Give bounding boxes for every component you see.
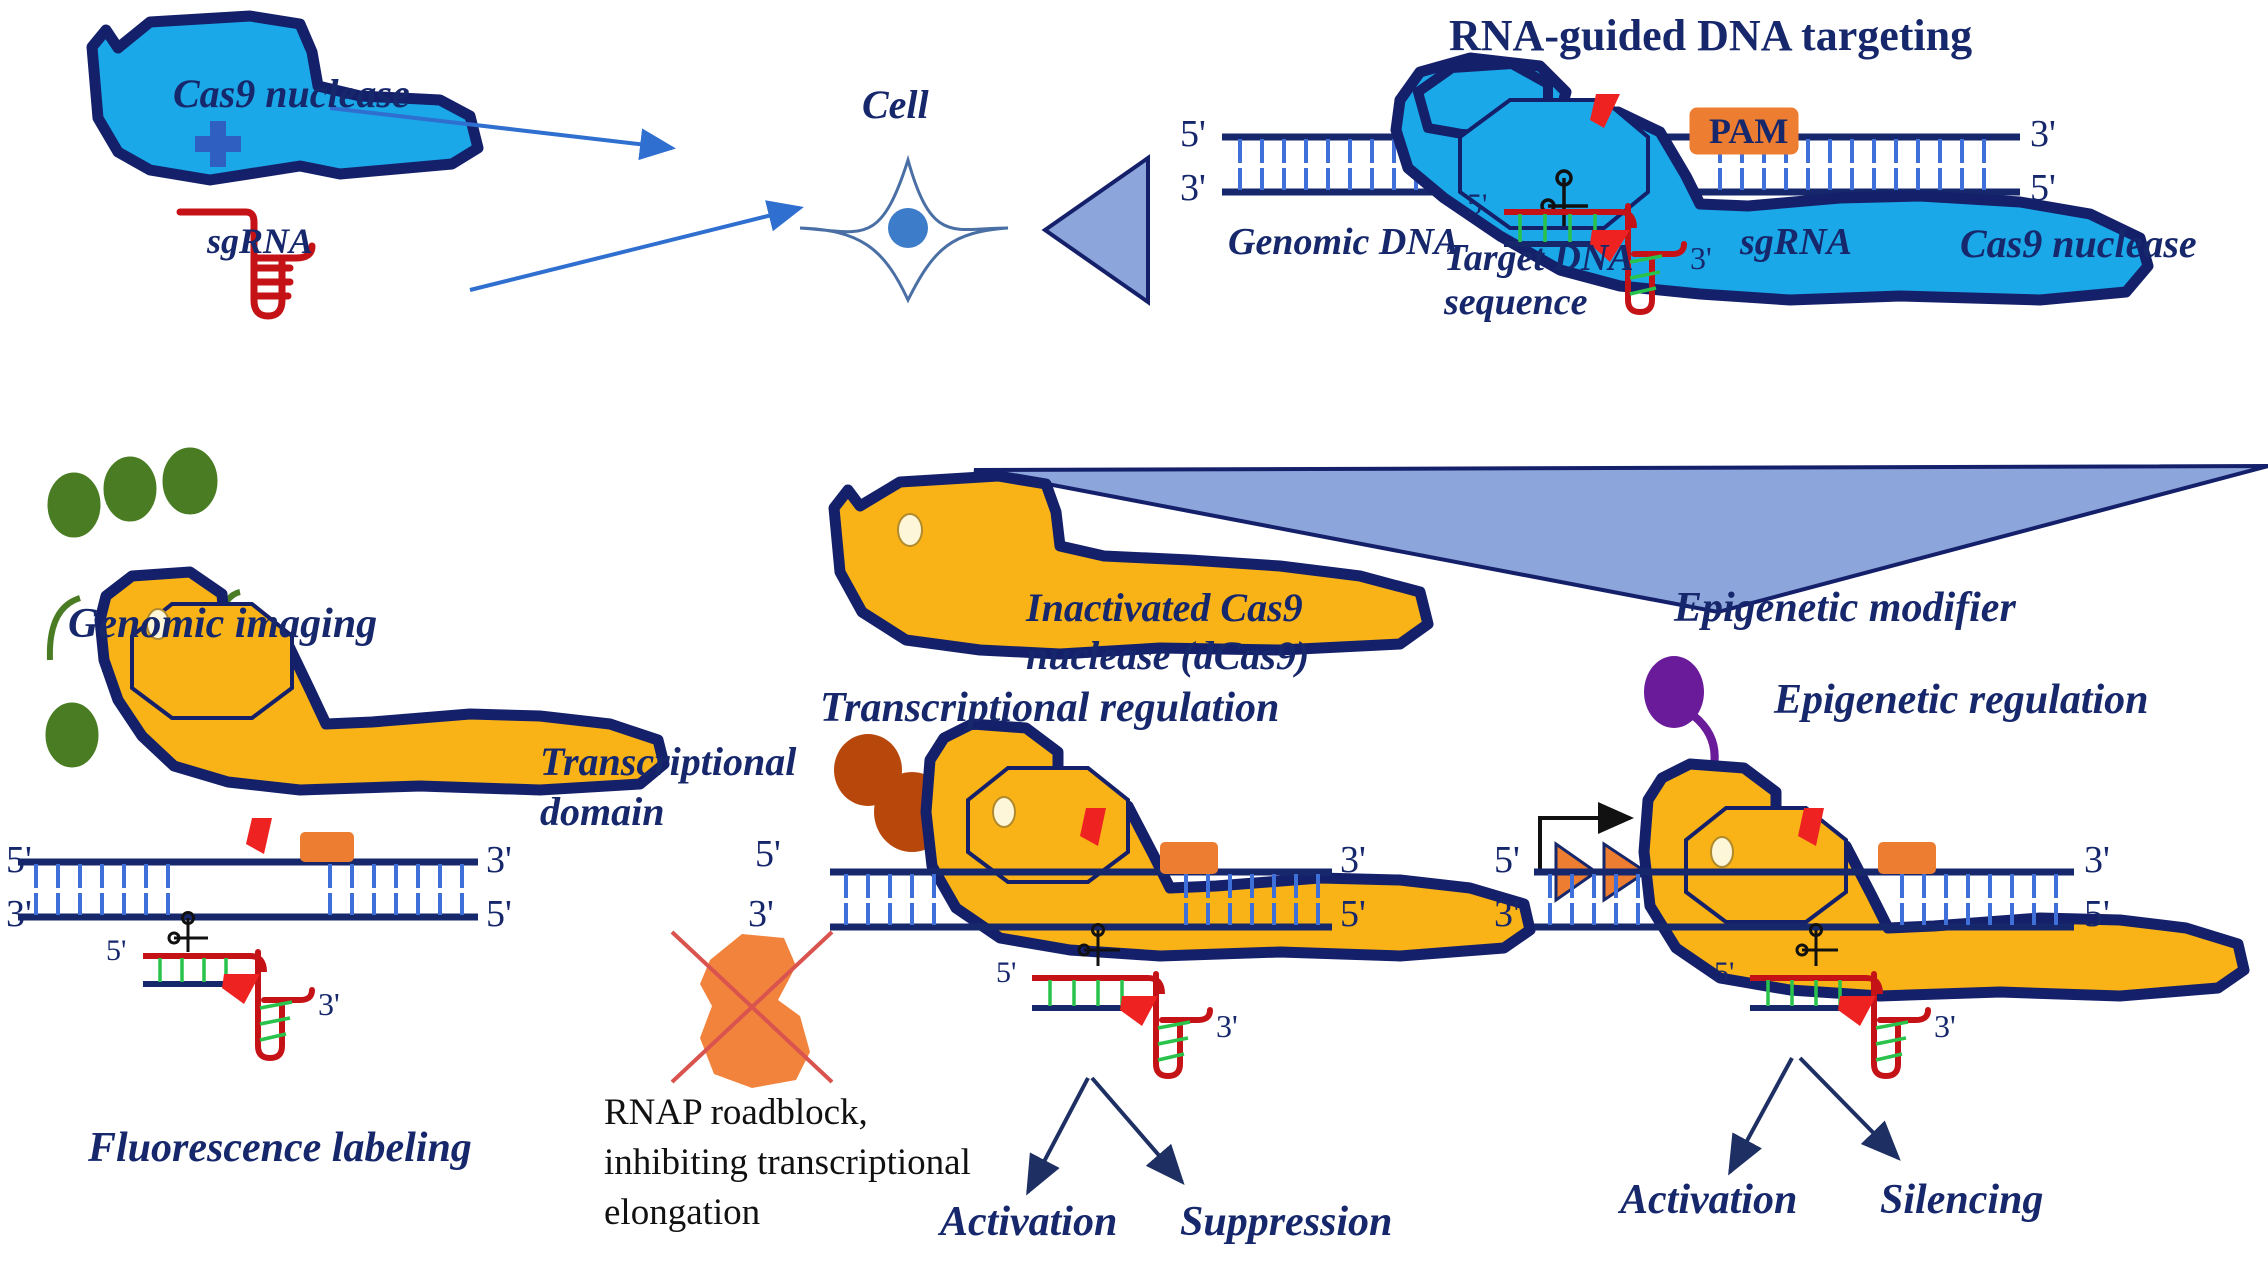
sgrna-three-prime-imaging: 3' bbox=[318, 986, 340, 1023]
genomic-imaging-heading: Genomic imaging bbox=[68, 602, 377, 647]
rna-guided-title: RNA-guided DNA targeting bbox=[1449, 10, 1972, 61]
blocked-five-prime: 5' bbox=[755, 832, 781, 876]
transcriptional-domain-line2: domain bbox=[540, 790, 664, 833]
cas9-nuclease-label-right: Cas9 nuclease bbox=[1960, 222, 2197, 265]
three-prime-top-right: 3' bbox=[2030, 112, 2056, 156]
sgrna-five-prime-imaging: 5' bbox=[106, 934, 126, 968]
transcription-outcome-activation: Activation bbox=[940, 1200, 1117, 1245]
rnap-roadblock-line1: RNAP roadblock, bbox=[604, 1090, 868, 1136]
triangle-to-cell bbox=[1045, 158, 1148, 302]
genomic-dna-label-right: Genomic DNA bbox=[1228, 222, 1459, 263]
three-prime-transcription-right: 3' bbox=[1340, 838, 1366, 882]
pam-box-epigenetic bbox=[1878, 842, 1936, 874]
blocked-three-prime: 3' bbox=[748, 892, 774, 936]
five-prime-epigenetic-right: 5' bbox=[2084, 892, 2110, 936]
epigenetic-outcome-silencing: Silencing bbox=[1880, 1178, 2043, 1223]
transcription-outcome-suppression: Suppression bbox=[1180, 1200, 1392, 1245]
cleavage-arrow-imaging bbox=[246, 818, 272, 854]
three-prime-epigenetic-right: 3' bbox=[2084, 838, 2110, 882]
epigenetic-regulation-heading: Epigenetic regulation bbox=[1774, 678, 2149, 723]
genomic-dna-duplex-imaging bbox=[18, 862, 478, 917]
sgrna-three-prime-right: 3' bbox=[1690, 240, 1712, 277]
rnap-roadblock-icon bbox=[672, 932, 832, 1088]
outcome-arrows-transcription bbox=[1028, 1078, 1182, 1192]
dcas9-label-line1: Inactivated Cas9 bbox=[1026, 586, 1303, 629]
sgrna-five-prime-transcription: 5' bbox=[996, 956, 1016, 990]
five-prime-imaging-right: 5' bbox=[486, 892, 512, 936]
transcriptional-regulation-heading: Transcriptional regulation bbox=[820, 686, 1279, 731]
rnap-roadblock-line3: elongation bbox=[604, 1190, 760, 1236]
sgrna-five-prime-epigenetic: 5' bbox=[1714, 956, 1734, 990]
sgrna-label-top: sgRNA bbox=[207, 222, 313, 261]
three-prime-epigenetic-left: 3' bbox=[1494, 892, 1520, 936]
diagram-canvas: Cas9 nuclease sgRNA Cell RNA-guided DNA … bbox=[0, 0, 2268, 1277]
sgrna-label-right: sgRNA bbox=[1740, 222, 1852, 263]
dcas9-label-line2: nuclease (dCas9) bbox=[1026, 634, 1309, 677]
sgrna-three-prime-epigenetic: 3' bbox=[1934, 1008, 1956, 1045]
sgrna-three-prime-transcription: 3' bbox=[1216, 1008, 1238, 1045]
five-prime-top-right: 5' bbox=[1180, 112, 1206, 156]
sgrna-dna-hybrid-imaging bbox=[143, 952, 312, 1058]
pam-label-right: PAM bbox=[1709, 110, 1788, 152]
five-prime-transcription-right: 5' bbox=[1340, 892, 1366, 936]
sgrna-dna-hybrid-transcription bbox=[1032, 974, 1210, 1076]
three-prime-imaging-right: 3' bbox=[486, 838, 512, 882]
sgrna-five-prime-right: 5' bbox=[1467, 188, 1487, 222]
transcriptional-domain-line1: Transcriptional bbox=[540, 740, 796, 783]
pam-box-imaging bbox=[300, 832, 354, 862]
three-prime-bottom-right: 3' bbox=[1180, 166, 1206, 210]
five-prime-epigenetic-left: 5' bbox=[1494, 838, 1520, 882]
epigenetic-modifier-label: Epigenetic modifier bbox=[1674, 586, 2016, 631]
five-prime-bottom-right: 5' bbox=[2030, 166, 2056, 210]
outcome-arrows-epigenetic bbox=[1730, 1058, 1898, 1172]
epigenetic-outcome-activation: Activation bbox=[1620, 1178, 1797, 1223]
fluorescence-labeling-footer: Fluorescence labeling bbox=[88, 1126, 472, 1171]
cell-icon bbox=[800, 160, 1008, 300]
rnap-roadblock-line2: inhibiting transcriptional bbox=[604, 1140, 971, 1186]
cas9-nuclease-label-top: Cas9 nuclease bbox=[173, 72, 410, 115]
arrow-sgrna-to-cell bbox=[470, 208, 800, 290]
pam-box-transcription bbox=[1160, 842, 1218, 874]
target-dna-label-line1: Target DNA bbox=[1444, 238, 1634, 279]
three-prime-imaging-left: 3' bbox=[6, 892, 32, 936]
five-prime-imaging-left: 5' bbox=[6, 838, 32, 882]
target-dna-label-line2: sequence bbox=[1444, 282, 1588, 323]
cell-label: Cell bbox=[862, 83, 929, 126]
